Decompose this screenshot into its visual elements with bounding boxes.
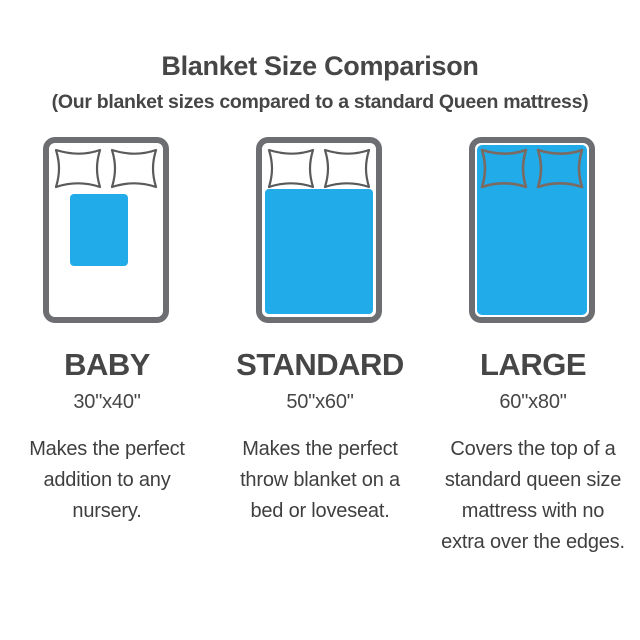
bed-diagram-baby <box>42 136 172 331</box>
size-description-standard: Makes the perfect throw blanket on a bed… <box>227 434 413 527</box>
blanket-shape-baby <box>70 194 128 266</box>
page-title: Blanket Size Comparison <box>0 52 640 82</box>
size-dimensions-large: 60"x80" <box>499 392 566 412</box>
blanket-size-comparison-infographic: Blanket Size Comparison (Our blanket siz… <box>0 0 640 640</box>
bed-diagram-large <box>468 136 598 331</box>
size-column-large: LARGE 60"x80" Covers the top of a standa… <box>427 136 640 558</box>
size-columns: BABY 30"x40" Makes the perfect addition … <box>0 136 640 558</box>
size-name-large: LARGE <box>480 349 586 380</box>
size-column-baby: BABY 30"x40" Makes the perfect addition … <box>1 136 214 527</box>
pillow-left-icon <box>56 150 100 187</box>
blanket-shape-standard <box>265 189 373 314</box>
size-dimensions-standard: 50"x60" <box>286 392 353 412</box>
size-description-baby: Makes the perfect addition to any nurser… <box>14 434 200 527</box>
pillow-right-icon <box>325 150 369 187</box>
size-name-standard: STANDARD <box>236 349 404 380</box>
size-column-standard: STANDARD 50"x60" Makes the perfect throw… <box>214 136 427 527</box>
pillow-right-icon <box>112 150 156 187</box>
size-name-baby: BABY <box>64 349 150 380</box>
pillow-left-icon <box>269 150 313 187</box>
page-subtitle: (Our blanket sizes compared to a standar… <box>0 91 640 114</box>
bed-diagram-standard <box>255 136 385 331</box>
size-description-large: Covers the top of a standard queen size … <box>440 434 626 558</box>
size-dimensions-baby: 30"x40" <box>73 392 140 412</box>
blanket-shape-large <box>477 145 587 315</box>
header: Blanket Size Comparison (Our blanket siz… <box>0 0 640 114</box>
